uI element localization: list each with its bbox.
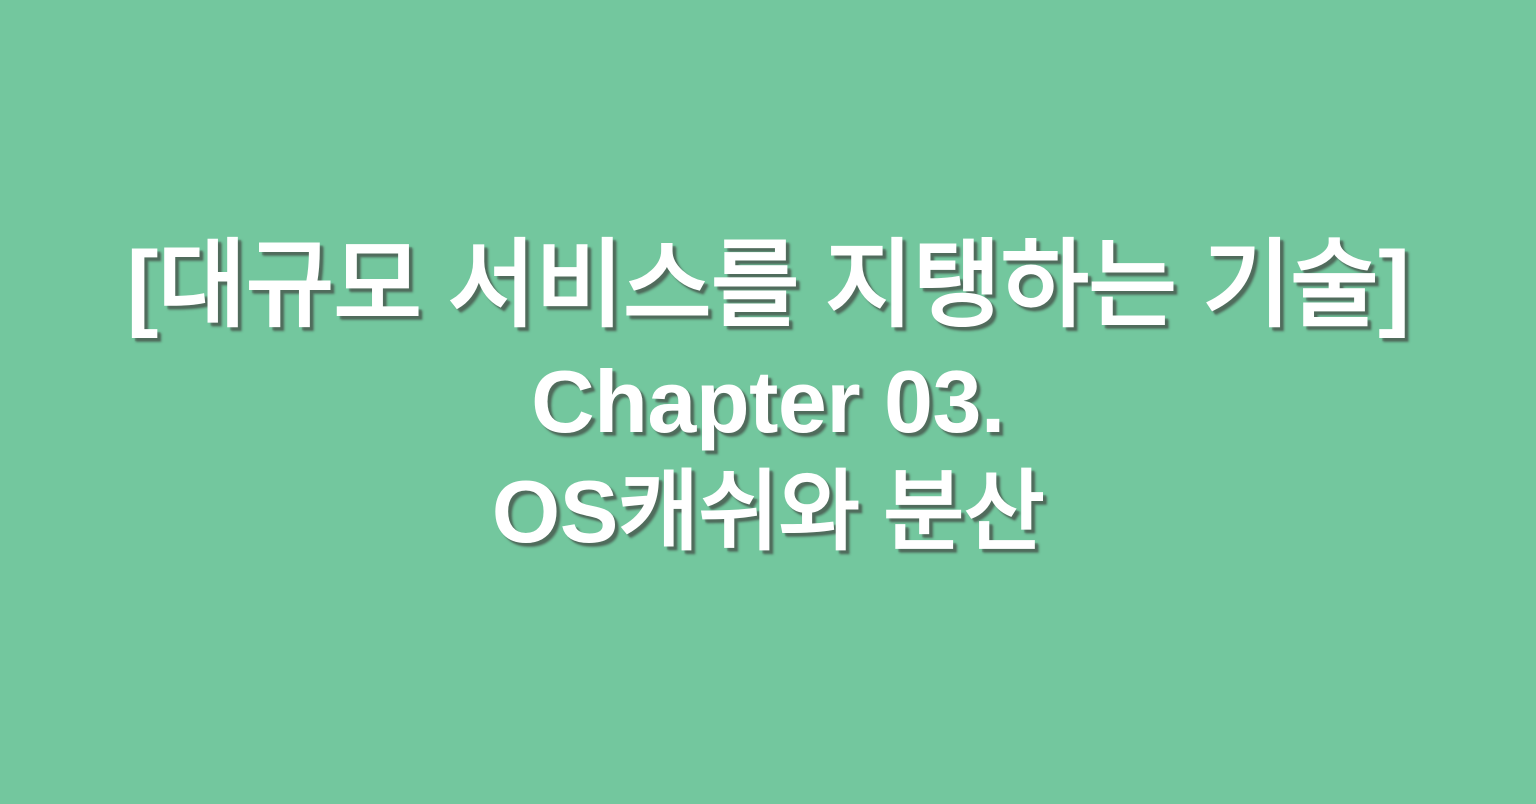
title-block: [대규모 서비스를 지탱하는 기술] Chapter 03. OS캐쉬와 분산 bbox=[0, 225, 1536, 568]
slide-title-subject: OS캐쉬와 분산 bbox=[40, 457, 1496, 567]
slide-title-chapter: Chapter 03. bbox=[40, 347, 1496, 457]
slide-title-book: [대규모 서비스를 지탱하는 기술] bbox=[40, 225, 1496, 348]
slide-canvas: [대규모 서비스를 지탱하는 기술] Chapter 03. OS캐쉬와 분산 bbox=[0, 0, 1536, 804]
